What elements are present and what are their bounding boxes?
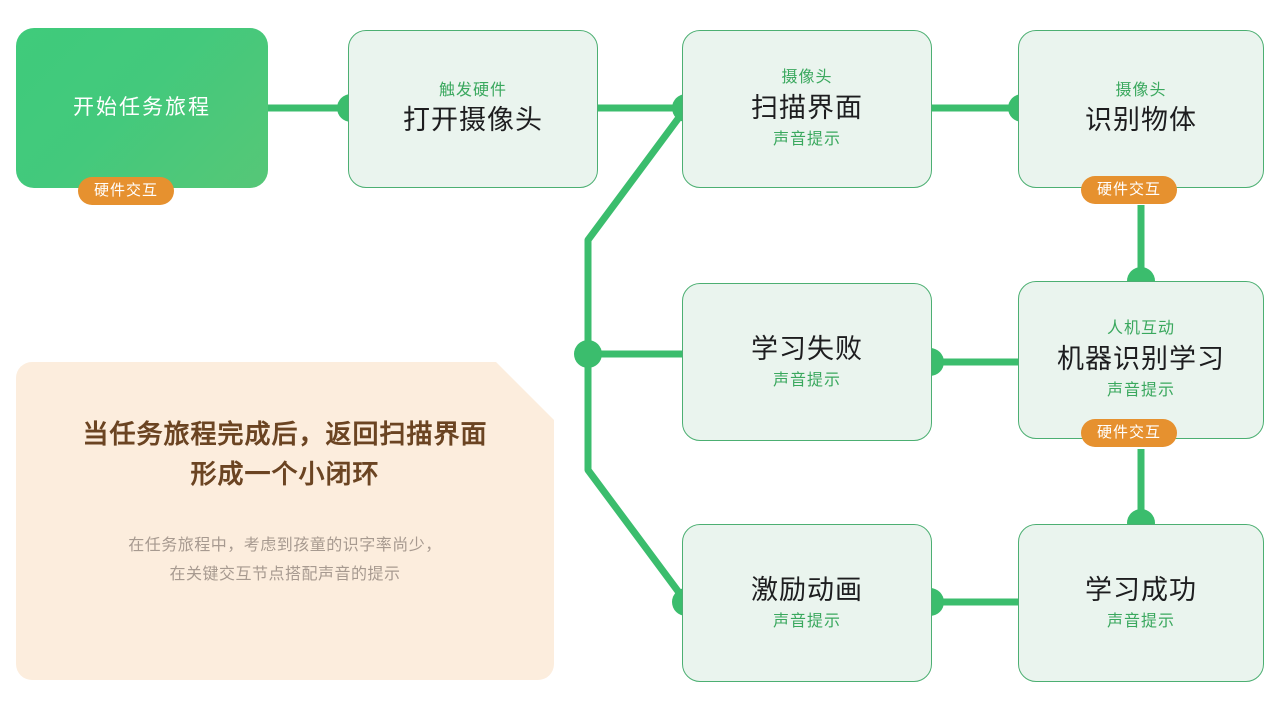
node-learn-fail[interactable]: 学习失败 声音提示 [682,283,932,441]
node-learn-success-footnote: 声音提示 [1107,611,1175,633]
node-learn-success[interactable]: 学习成功 声音提示 [1018,524,1264,682]
callout-heading-line1: 当任务旅程完成后，返回扫描界面 [82,414,487,454]
node-learn-fail-title: 学习失败 [751,332,863,367]
badge-machine-learning-hardware: 硬件交互 [1081,419,1177,447]
flowchart-canvas: 开始任务旅程 硬件交互 触发硬件 打开摄像头 摄像头 扫描界面 声音提示 摄像头… [0,0,1280,720]
node-open-camera-subtitle: 触发硬件 [439,80,507,102]
node-recognize-object-subtitle: 摄像头 [1115,80,1166,102]
node-scan-ui-subtitle: 摄像头 [781,67,832,89]
node-machine-learning-footnote: 声音提示 [1107,380,1175,402]
badge-recognize-object-hardware: 硬件交互 [1081,176,1177,204]
node-open-camera[interactable]: 触发硬件 打开摄像头 [348,30,598,188]
node-learn-fail-footnote: 声音提示 [773,370,841,392]
node-reward-animation-footnote: 声音提示 [773,611,841,633]
node-machine-learning[interactable]: 人机互动 机器识别学习 声音提示 [1018,281,1264,439]
node-open-camera-title: 打开摄像头 [403,103,543,138]
node-reward-animation[interactable]: 激励动画 声音提示 [682,524,932,682]
callout-body-line2: 在关键交互节点搭配声音的提示 [169,560,400,590]
edge-hub-to-reward-animation [588,354,686,602]
node-recognize-object-title: 识别物体 [1085,103,1197,138]
node-scan-ui[interactable]: 摄像头 扫描界面 声音提示 [682,30,932,188]
callout-note: 当任务旅程完成后，返回扫描界面 形成一个小闭环 在任务旅程中，考虑到孩童的识字率… [16,362,554,680]
node-scan-ui-footnote: 声音提示 [773,129,841,151]
edge-junction-diagonal-upper [588,108,686,354]
node-start[interactable]: 开始任务旅程 [16,28,268,188]
badge-start-hardware: 硬件交互 [78,177,174,205]
node-machine-learning-subtitle: 人机互动 [1107,318,1175,340]
node-machine-learning-title: 机器识别学习 [1057,342,1225,377]
connector-dot-branch-hub [574,340,602,368]
node-recognize-object[interactable]: 摄像头 识别物体 [1018,30,1264,188]
node-start-title: 开始任务旅程 [73,94,211,121]
callout-body-line1: 在任务旅程中，考虑到孩童的识字率尚少， [128,531,442,561]
callout-heading-line2: 形成一个小闭环 [190,454,379,494]
node-reward-animation-title: 激励动画 [751,573,863,608]
node-scan-ui-title: 扫描界面 [751,91,863,126]
node-learn-success-title: 学习成功 [1085,573,1197,608]
